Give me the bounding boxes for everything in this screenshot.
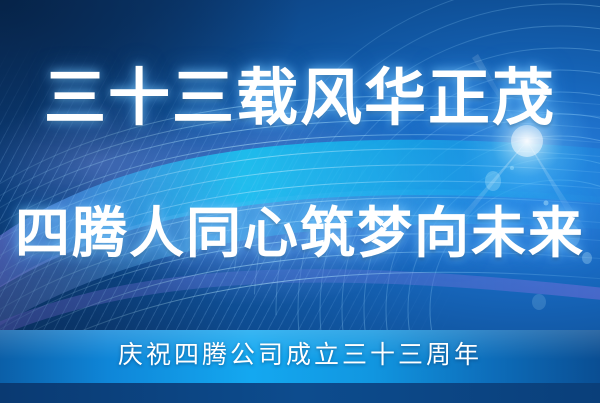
anniversary-poster: 三十三载风华正茂 四腾人同心筑梦向未来 庆祝四腾公司成立三十三周年 [0,0,600,403]
headline-line-2: 四腾人同心筑梦向未来 [0,198,600,268]
poster-subtitle: 庆祝四腾公司成立三十三周年 [0,339,600,373]
headline-line-1: 三十三载风华正茂 [0,64,600,134]
bottom-dark-band [0,383,600,403]
